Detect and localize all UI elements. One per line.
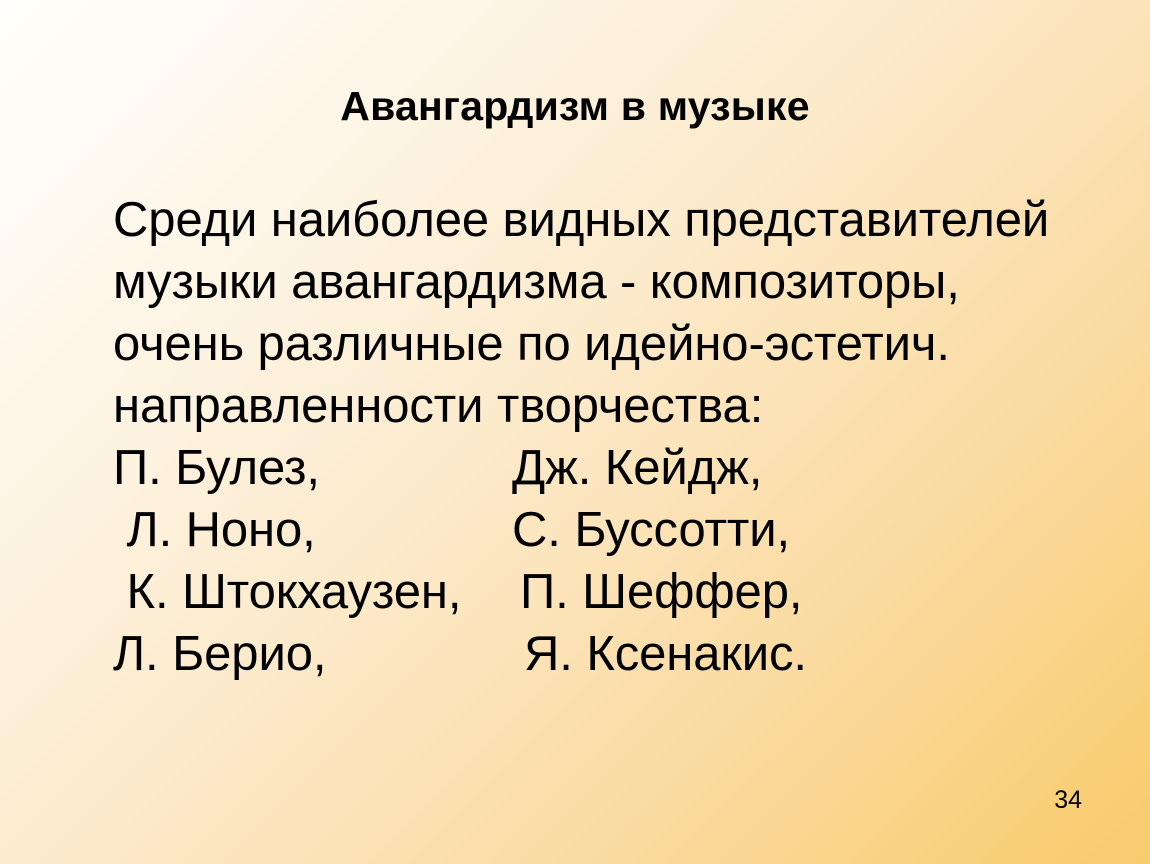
composer-row: Л. Ноно, С. Буссотти, [113,499,1123,561]
presentation-slide: Авангардизм в музыке Среди наиболее видн… [0,0,1150,864]
composer-row: Л. Берио, Я. Ксенакис. [113,623,1123,685]
composer-name-right: С. Буссотти, [512,499,790,561]
composer-name-right: Я. Ксенакис. [524,623,807,685]
body-line: направленности творчества: [113,375,1123,437]
slide-body-text: Среди наиболее видных представителей муз… [113,189,1123,685]
body-line: очень различные по идейно-эстетич. [113,313,1123,375]
body-line: музыки авангардизма - композиторы, [113,251,1123,313]
composer-row: П. Булез, Дж. Кейдж, [113,437,1123,499]
body-line: Среди наиболее видных представителей [113,189,1123,251]
composer-name-left: Л. Берио, [113,623,524,685]
composer-name-right: П. Шеффер, [520,561,802,623]
composer-name-left: К. Штокхаузен, [113,561,520,623]
composer-name-left: Л. Ноно, [113,499,512,561]
composer-row: К. Штокхаузен, П. Шеффер, [113,561,1123,623]
composer-name-right: Дж. Кейдж, [512,437,762,499]
slide-page-number: 34 [1054,788,1082,813]
page-title: Авангардизм в музыке [0,84,1150,130]
composer-name-left: П. Булез, [113,437,512,499]
